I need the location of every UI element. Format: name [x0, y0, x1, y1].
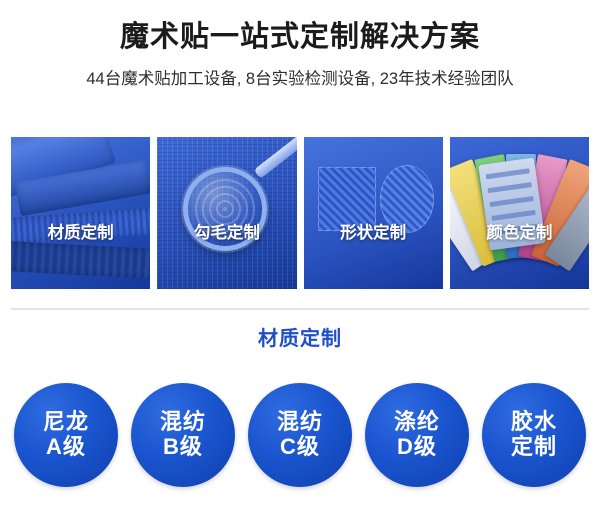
color-swatch-icon	[468, 145, 578, 285]
grade-line2: D级	[397, 435, 437, 460]
feature-card-label: 材质定制	[48, 219, 114, 243]
material-grade-item[interactable]: 混纺 B级	[131, 383, 235, 487]
material-grade-item[interactable]: 尼龙 A级	[14, 383, 118, 487]
grade-line1: 尼龙	[43, 410, 89, 435]
grade-line1: 混纺	[160, 410, 206, 435]
feature-card-label: 勾毛定制	[194, 219, 260, 243]
fabric-strip-decor	[11, 241, 150, 279]
header: 魔术贴一站式定制解决方案 44台魔术贴加工设备, 8台实验检测设备, 23年技术…	[0, 0, 600, 90]
feature-card-label: 形状定制	[340, 219, 406, 243]
grade-line2: B级	[163, 435, 203, 460]
grade-line2: A级	[46, 435, 86, 460]
feature-card-label: 颜色定制	[486, 219, 552, 243]
grade-line2: C级	[280, 435, 320, 460]
section-divider	[11, 308, 589, 310]
promo-banner: 魔术贴一站式定制解决方案 44台魔术贴加工设备, 8台实验检测设备, 23年技术…	[0, 0, 600, 529]
material-grade-list: 尼龙 A级 混纺 B级 混纺 C级 涤纶 D级 胶水 定制	[14, 372, 586, 497]
grade-line1: 胶水	[511, 410, 557, 435]
material-grade-item[interactable]: 混纺 C级	[248, 383, 352, 487]
feature-card-shape[interactable]: 形状定制	[304, 137, 443, 289]
grade-line2: 定制	[511, 435, 557, 460]
grade-line1: 涤纶	[394, 410, 440, 435]
page-title: 魔术贴一站式定制解决方案	[0, 22, 600, 54]
page-subtitle: 44台魔术贴加工设备, 8台实验检测设备, 23年技术经验团队	[0, 70, 600, 90]
feature-card-list: 材质定制 勾毛定制 形状定制	[11, 137, 589, 289]
feature-card-hookloop[interactable]: 勾毛定制	[157, 137, 296, 289]
feature-card-material[interactable]: 材质定制	[11, 137, 150, 289]
material-grade-item[interactable]: 胶水 定制	[482, 383, 586, 487]
feature-card-color[interactable]: 颜色定制	[450, 137, 589, 289]
grade-line1: 混纺	[277, 410, 323, 435]
section-title: 材质定制	[0, 322, 600, 351]
material-grade-item[interactable]: 涤纶 D级	[365, 383, 469, 487]
